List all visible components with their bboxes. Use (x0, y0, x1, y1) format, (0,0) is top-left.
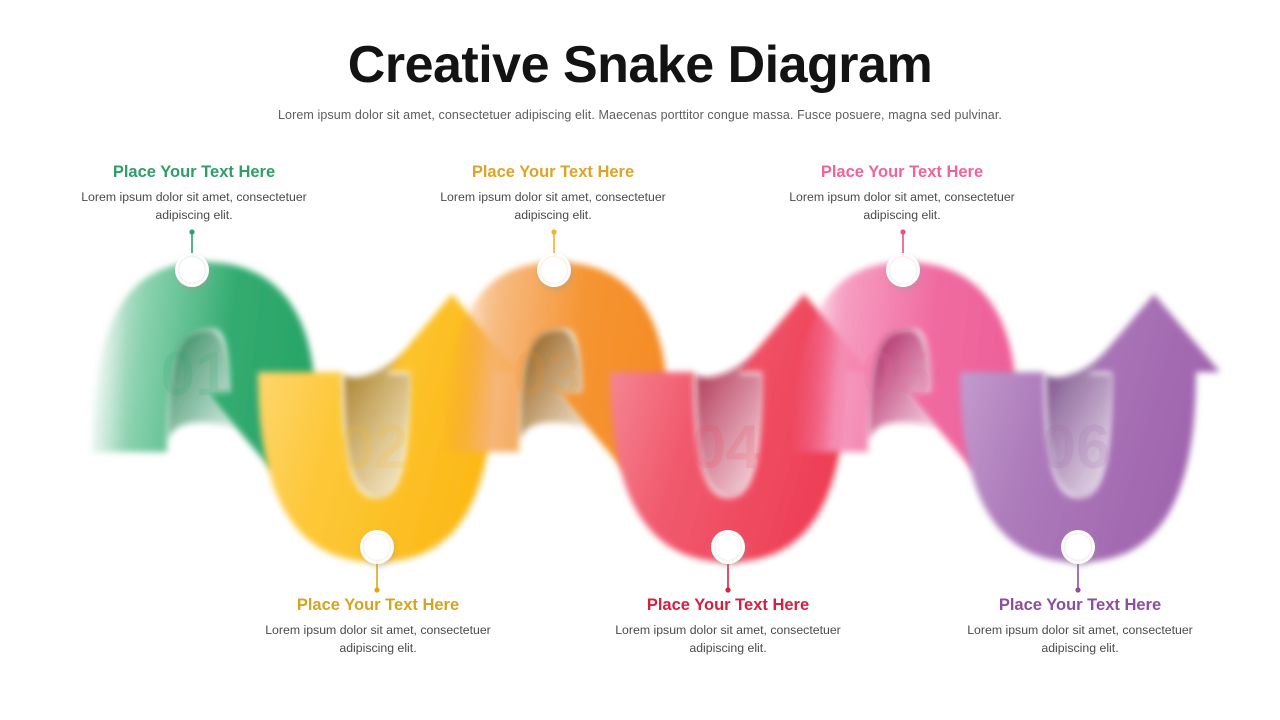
stem-dot-03 (551, 229, 556, 234)
segment-01-number: 01 (161, 340, 230, 409)
step-heading-02: Place Your Text Here (258, 596, 498, 616)
marker-circle-03[interactable] (537, 253, 571, 287)
stem-dot-01 (189, 229, 194, 234)
marker-circle-02[interactable] (360, 530, 394, 564)
marker-circle-04[interactable] (711, 530, 745, 564)
step-text-04[interactable]: Place Your Text Here Lorem ipsum dolor s… (608, 596, 848, 657)
step-text-02[interactable]: Place Your Text Here Lorem ipsum dolor s… (258, 596, 498, 657)
segment-04-number: 04 (692, 413, 761, 482)
segment-03-number: 03 (513, 340, 582, 409)
step-heading-05: Place Your Text Here (782, 163, 1022, 183)
step-body-05: Lorem ipsum dolor sit amet, consectetuer… (782, 189, 1022, 225)
marker-circle-01[interactable] (175, 253, 209, 287)
stem-dot-02 (374, 587, 379, 592)
slide-canvas: Creative Snake Diagram Lorem ipsum dolor… (0, 0, 1280, 720)
step-text-01[interactable]: Place Your Text Here Lorem ipsum dolor s… (74, 163, 314, 224)
marker-05[interactable] (886, 229, 920, 287)
stem-dot-06 (1075, 587, 1080, 592)
marker-circle-06[interactable] (1061, 530, 1095, 564)
step-body-03: Lorem ipsum dolor sit amet, consectetuer… (433, 189, 673, 225)
step-body-06: Lorem ipsum dolor sit amet, consectetuer… (960, 622, 1200, 658)
step-body-04: Lorem ipsum dolor sit amet, consectetuer… (608, 622, 848, 658)
step-body-01: Lorem ipsum dolor sit amet, consectetuer… (74, 189, 314, 225)
step-heading-04: Place Your Text Here (608, 596, 848, 616)
step-text-06[interactable]: Place Your Text Here Lorem ipsum dolor s… (960, 596, 1200, 657)
step-heading-06: Place Your Text Here (960, 596, 1200, 616)
marker-circle-05[interactable] (886, 253, 920, 287)
step-heading-03: Place Your Text Here (433, 163, 673, 183)
stem-dot-04 (725, 587, 730, 592)
stem-dot-05 (900, 229, 905, 234)
step-text-05[interactable]: Place Your Text Here Lorem ipsum dolor s… (782, 163, 1022, 224)
marker-01[interactable] (175, 229, 209, 287)
step-text-03[interactable]: Place Your Text Here Lorem ipsum dolor s… (433, 163, 673, 224)
step-heading-01: Place Your Text Here (74, 163, 314, 183)
marker-03[interactable] (537, 229, 571, 287)
step-body-02: Lorem ipsum dolor sit amet, consectetuer… (258, 622, 498, 658)
segment-06-number: 06 (1042, 413, 1111, 482)
segment-05-number: 05 (862, 340, 931, 409)
segment-02-number: 02 (340, 413, 409, 482)
